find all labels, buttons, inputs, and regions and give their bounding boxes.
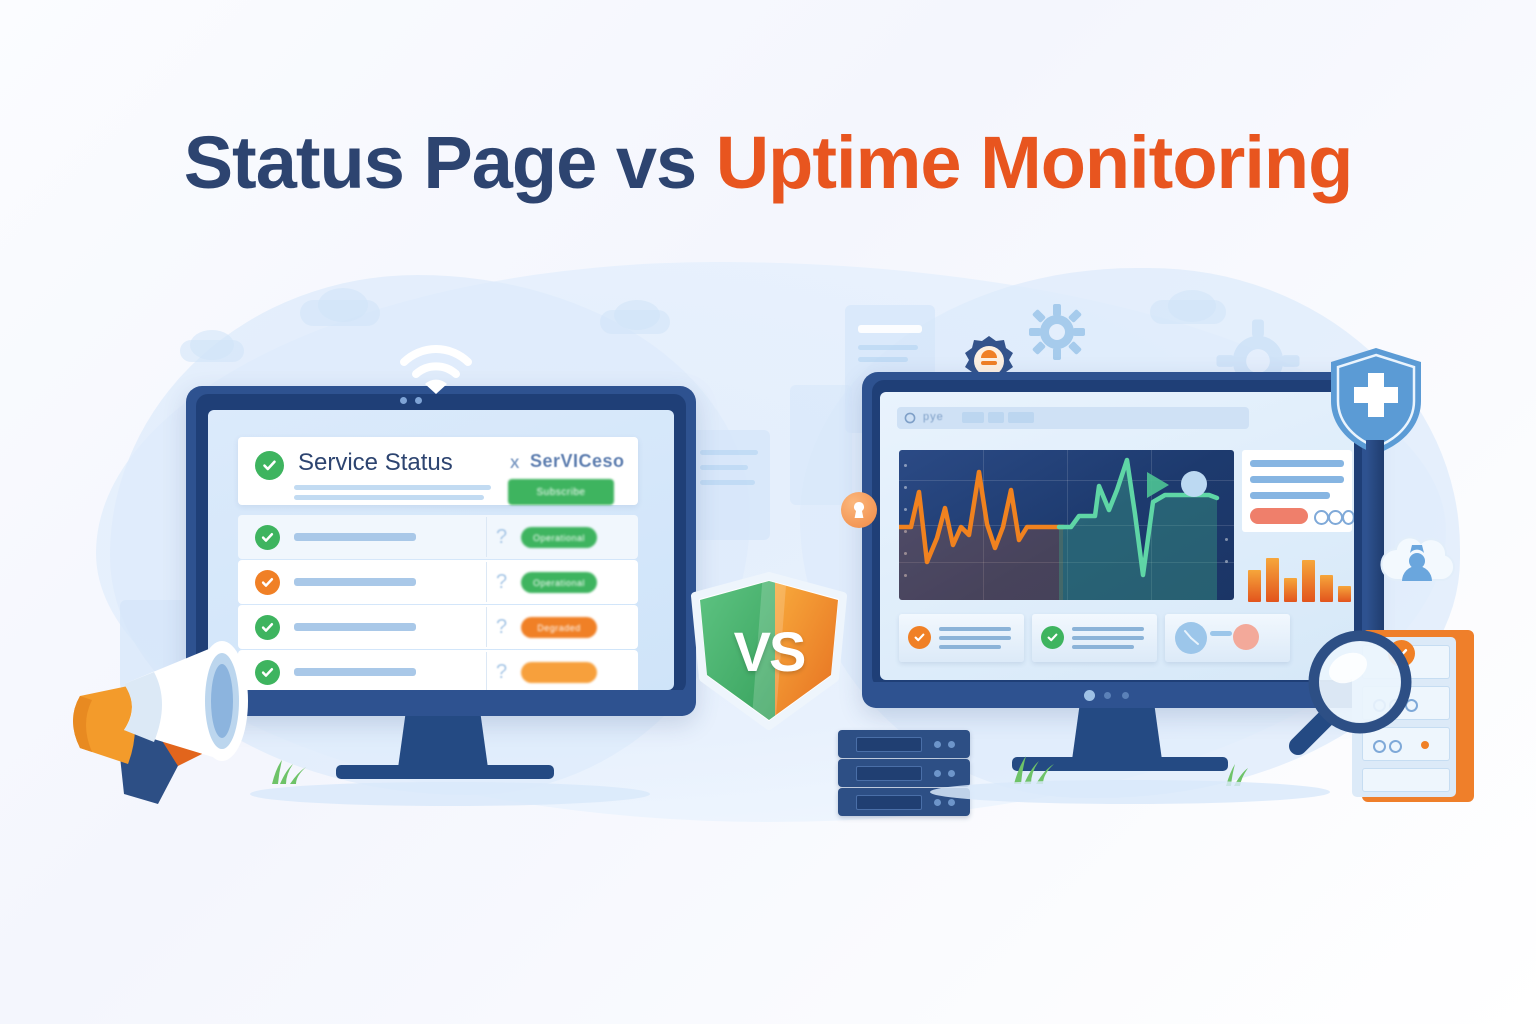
document-line [858, 357, 908, 362]
document-decor-icon [790, 385, 852, 505]
gear-icon [1028, 303, 1086, 361]
vs-label: VS [683, 572, 855, 730]
check-circle-icon [255, 525, 280, 550]
panel-line [1250, 460, 1344, 467]
cloud-decor-icon [190, 330, 234, 360]
service-status-title: Service Status [298, 449, 453, 477]
cloud-decor-icon [1168, 290, 1216, 322]
monitor-stand-base [336, 765, 554, 779]
document-line [700, 480, 755, 485]
grass-decor-icon [1010, 754, 1056, 784]
document-line [700, 450, 758, 455]
placeholder-bar [294, 495, 484, 500]
row-meta: ? [496, 616, 507, 639]
play-icon [1147, 472, 1169, 498]
uptime-dashboard-screen: pye [880, 392, 1354, 680]
monitor-stand-neck [1072, 708, 1162, 760]
indicator-ring [1314, 510, 1329, 525]
status-badge [521, 662, 597, 683]
row-meta: ? [496, 571, 507, 594]
indicator-ring [1342, 510, 1354, 525]
gauge-card[interactable] [1165, 614, 1290, 662]
status-badge: Operational [521, 572, 597, 593]
service-row[interactable]: ? Operational [238, 560, 638, 604]
row-meta: ? [496, 526, 507, 549]
status-dot [1181, 471, 1207, 497]
placeholder-bar [294, 668, 416, 676]
check-circle-icon [1041, 626, 1064, 649]
row-meta: ? [496, 661, 507, 684]
placeholder-bar [294, 485, 491, 490]
phone-icon [1233, 624, 1259, 650]
page-title: Status Page vs Uptime Monitoring [0, 126, 1536, 200]
floor-shadow [930, 780, 1330, 804]
placeholder-bar [294, 623, 416, 631]
floor-shadow [250, 782, 650, 806]
service-logo-x: X [510, 455, 520, 471]
power-dot [1122, 692, 1129, 699]
check-circle-icon [255, 570, 280, 595]
document-line [858, 325, 922, 333]
gauge-icon [1175, 622, 1207, 654]
status-badge: Operational [521, 527, 597, 548]
status-summary-card[interactable] [1032, 614, 1157, 662]
title-part-orange: Uptime Monitoring [716, 121, 1353, 204]
response-time-chart [899, 450, 1234, 600]
title-part-navy: Status Page vs [184, 121, 716, 204]
check-circle-icon [255, 451, 284, 480]
subscribe-button[interactable]: Subscribe [508, 479, 614, 505]
vs-shield-icon: VS [683, 572, 855, 730]
document-line [858, 345, 918, 350]
alert-pill [1250, 508, 1308, 524]
panel-line [1250, 476, 1344, 483]
service-logo-text: SerVICeso [530, 451, 625, 472]
browser-url-bar[interactable] [897, 407, 1249, 429]
list-item [1362, 768, 1450, 792]
service-status-header-card: Service Status X SerVICeso Subscribe [238, 437, 638, 505]
power-dot [1084, 690, 1095, 701]
power-dot [1104, 692, 1111, 699]
indicator-ring [1328, 510, 1343, 525]
traffic-bar-chart [1242, 542, 1354, 602]
placeholder-bar [294, 578, 416, 586]
service-row[interactable]: ? Operational [238, 515, 638, 559]
cloud-decor-icon [614, 300, 660, 330]
camera-dot [415, 397, 422, 404]
metrics-side-panel [1242, 450, 1352, 532]
monitor-stand-neck [398, 716, 488, 768]
cloud-user-icon [1374, 533, 1460, 610]
link-icon [1210, 631, 1232, 636]
grass-decor-icon [268, 758, 308, 784]
document-decor-icon [690, 430, 770, 540]
lock-icon [841, 492, 877, 528]
placeholder-bar [294, 533, 416, 541]
document-line [700, 465, 748, 470]
magnifier-icon [1288, 624, 1414, 761]
url-text: pye [923, 411, 944, 423]
check-circle-icon [908, 626, 931, 649]
illustration-canvas: Status Page vs Uptime Monitoring [0, 0, 1536, 1024]
panel-line [1250, 492, 1330, 499]
circle-icon [904, 412, 916, 424]
camera-dot [400, 397, 407, 404]
status-summary-card[interactable] [899, 614, 1024, 662]
wifi-icon [394, 336, 478, 394]
status-badge: Degraded [521, 617, 597, 638]
cloud-decor-icon [318, 288, 368, 322]
